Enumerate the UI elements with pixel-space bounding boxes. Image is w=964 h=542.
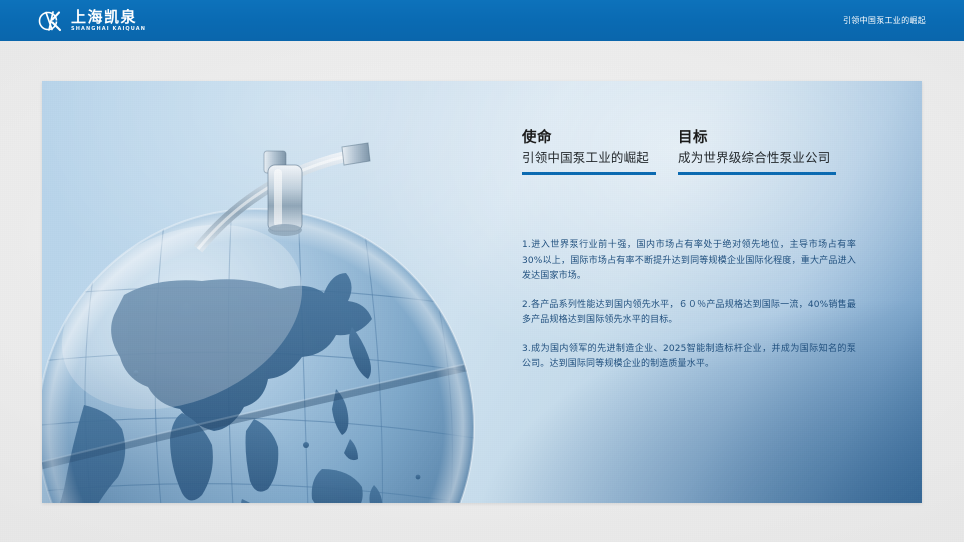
paragraph-1: 1.进入世界泵行业前十强，国内市场占有率处于绝对领先地位，主导市场占有率30%以… [522, 238, 856, 284]
logo-company-name-en: SHANGHAI KAIQUAN [71, 27, 146, 32]
globe-meridian-ring-icon [192, 99, 422, 269]
kaiquan-monogram-icon [36, 7, 66, 35]
headings-row: 使命 引领中国泵工业的崛起 目标 成为世界级综合性泵业公司 [522, 129, 882, 175]
mission-block: 使命 引领中国泵工业的崛起 [522, 129, 678, 175]
paragraph-2: 2.各产品系列性能达到国内领先水平，６０％产品规格达到国际一流，40%销售最多产… [522, 298, 856, 329]
goal-subtitle: 成为世界级综合性泵业公司 [678, 150, 868, 166]
slide-page: 上海凯泉 SHANGHAI KAIQUAN 引领中国泵工业的崛起 [0, 0, 964, 542]
logo-company-name-cn: 上海凯泉 [71, 10, 146, 25]
body-paragraphs: 1.进入世界泵行业前十强，国内市场占有率处于绝对领先地位，主导市场占有率30%以… [522, 238, 882, 372]
goal-underline [678, 172, 836, 175]
paragraph-3: 3.成为国内领军的先进制造企业、2025智能制造标杆企业，并成为国际知名的泵公司… [522, 342, 856, 373]
goal-block: 目标 成为世界级综合性泵业公司 [678, 129, 868, 175]
company-logo[interactable]: 上海凯泉 SHANGHAI KAIQUAN [36, 6, 146, 36]
globe-illustration-icon [42, 177, 566, 503]
goal-title: 目标 [678, 129, 868, 147]
mission-title: 使命 [522, 129, 678, 147]
logo-wordmark: 上海凯泉 SHANGHAI KAIQUAN [71, 10, 146, 32]
mission-underline [522, 172, 656, 175]
header-tagline: 引领中国泵工业的崛起 [843, 0, 926, 41]
slide-text-column: 使命 引领中国泵工业的崛起 目标 成为世界级综合性泵业公司 1.进入世界泵行业前… [522, 129, 882, 373]
slide-content-panel: 使命 引领中国泵工业的崛起 目标 成为世界级综合性泵业公司 1.进入世界泵行业前… [42, 81, 922, 503]
mission-subtitle: 引领中国泵工业的崛起 [522, 150, 678, 166]
blue-globe-image [42, 177, 566, 503]
header-bar: 上海凯泉 SHANGHAI KAIQUAN 引领中国泵工业的崛起 [0, 0, 964, 41]
